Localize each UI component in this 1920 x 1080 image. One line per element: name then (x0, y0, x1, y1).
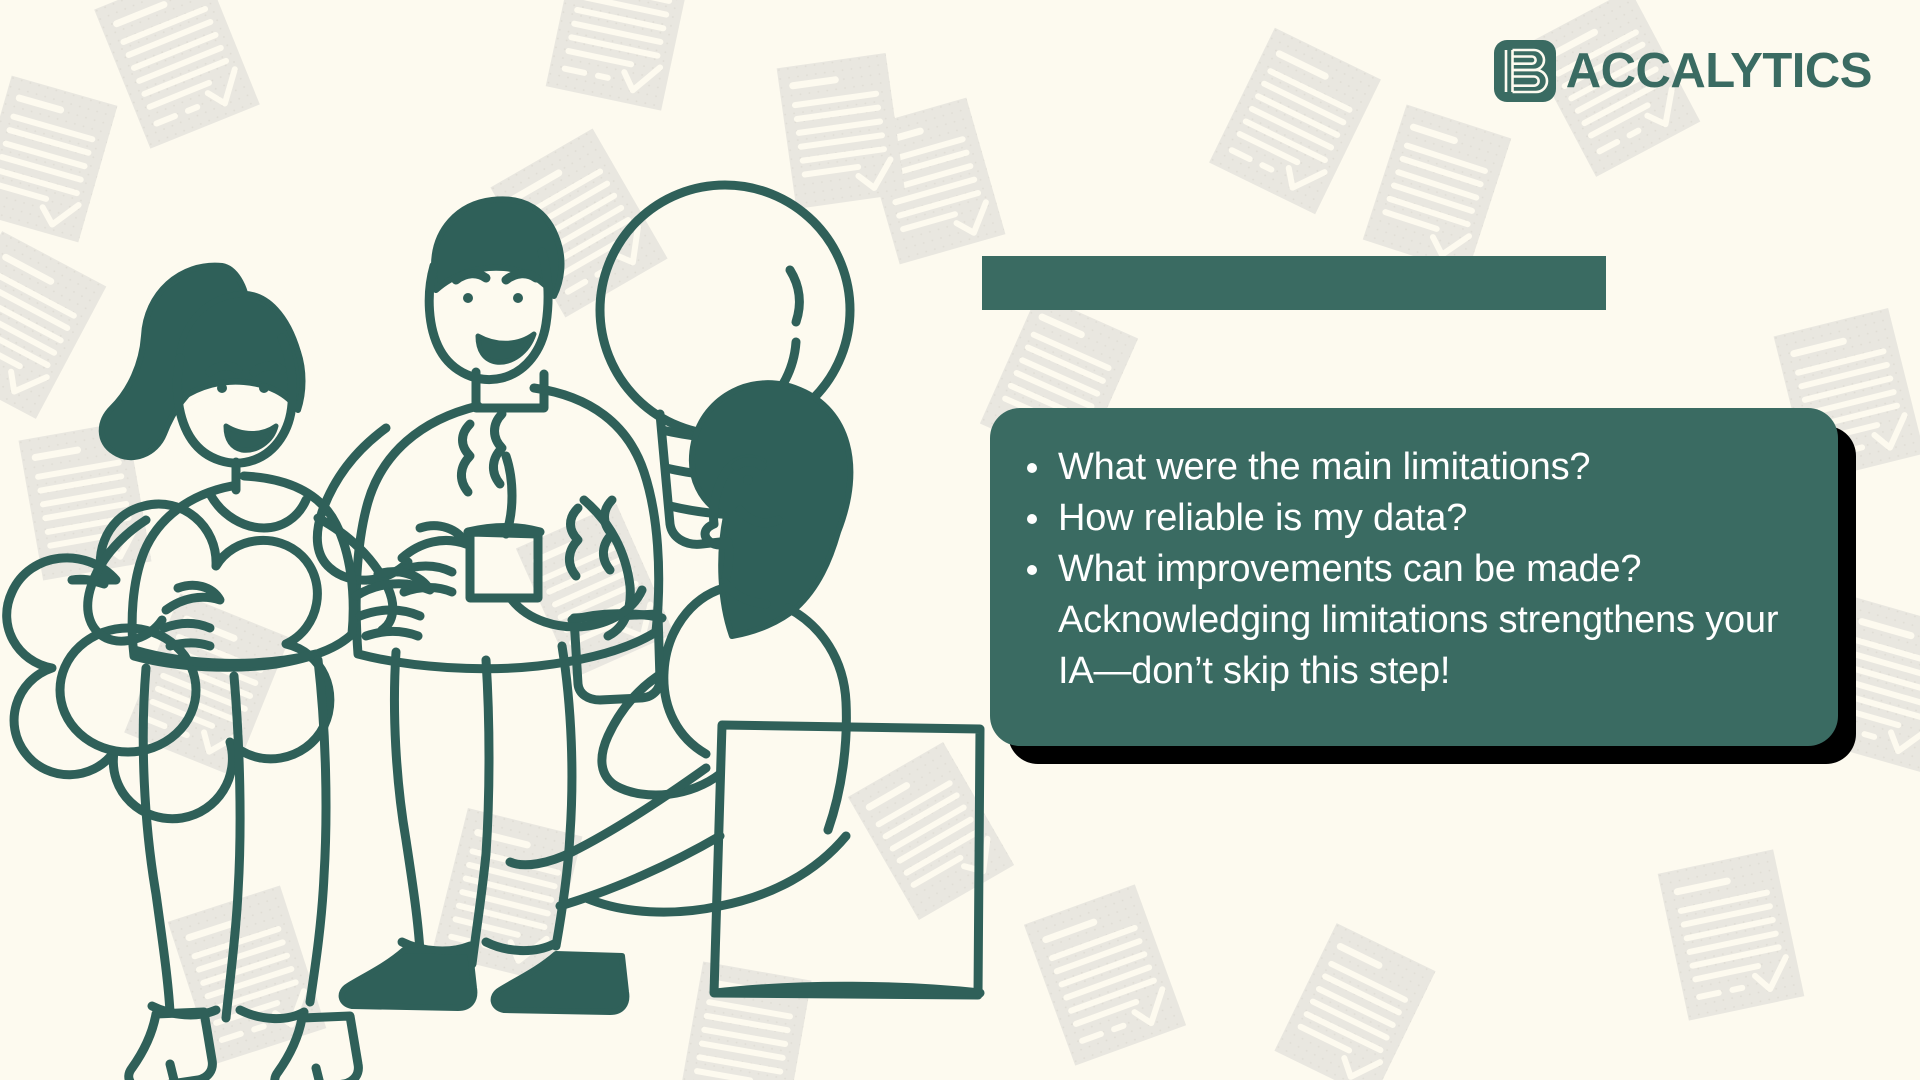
list-item: What were the main limitations? (1058, 442, 1798, 493)
list-item-label: How reliable is my data? (1058, 493, 1798, 544)
list-item: How reliable is my data? (1058, 493, 1798, 544)
bullet-dot-icon (1027, 463, 1037, 473)
content-card: What were the main limitations? How reli… (990, 408, 1838, 746)
bullet-list: What were the main limitations? How reli… (1010, 442, 1798, 697)
standing-woman (88, 266, 430, 1080)
brand-logo[interactable]: ACCALYTICS (1494, 40, 1872, 102)
bullet-dot-icon (1027, 514, 1037, 524)
baccalytics-b-mark-icon (1494, 40, 1556, 102)
bullet-dot-icon (1027, 565, 1037, 575)
list-item-label: What were the main limitations? (1058, 442, 1798, 493)
brand-wordmark: ACCALYTICS (1566, 47, 1872, 96)
list-item: What improvements can be made? Acknowled… (1058, 544, 1798, 697)
content-card-wrapper: What were the main limitations? How reli… (990, 408, 1838, 746)
three-people-discussion-illustration (0, 80, 1000, 1080)
list-item-label: What improvements can be made? Acknowled… (1058, 544, 1798, 697)
title-placeholder-bar (982, 256, 1606, 310)
